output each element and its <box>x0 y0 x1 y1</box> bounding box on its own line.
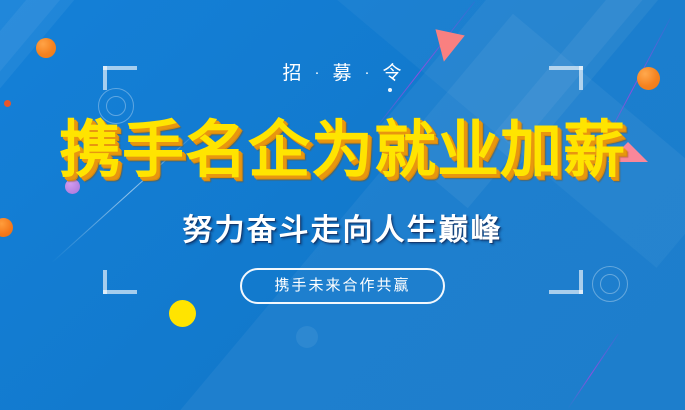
cta-button[interactable]: 携手未来合作共赢 <box>240 268 444 304</box>
corner-bracket-bottom-left-icon <box>103 270 137 294</box>
page-subtitle: 努力奋斗走向人生巅峰 <box>0 205 685 249</box>
page-title: 携手名企为就业加薪 <box>0 118 685 183</box>
cta-row: 携手未来合作共赢 <box>193 268 493 304</box>
eyebrow-separator-1: · <box>304 64 330 81</box>
recruitment-banner: 招·募·令 携手名企为就业加薪 努力奋斗走向人生巅峰 携手未来合作共赢 <box>0 0 685 410</box>
banner-content: 招·募·令 携手名企为就业加薪 努力奋斗走向人生巅峰 携手未来合作共赢 <box>0 0 685 410</box>
corner-bracket-top-right-icon <box>549 66 583 90</box>
eyebrow-text: 招·募·令 <box>280 64 404 83</box>
corner-bracket-bottom-right-icon <box>549 270 583 294</box>
corner-bracket-top-left-icon <box>103 66 137 90</box>
eyebrow-separator-2: · <box>355 64 381 81</box>
eyebrow-char-2: 募 <box>330 63 354 84</box>
eyebrow-row: 招·募·令 <box>193 64 493 83</box>
eyebrow-char-3: 令 <box>381 63 405 84</box>
eyebrow-char-1: 招 <box>280 63 304 84</box>
